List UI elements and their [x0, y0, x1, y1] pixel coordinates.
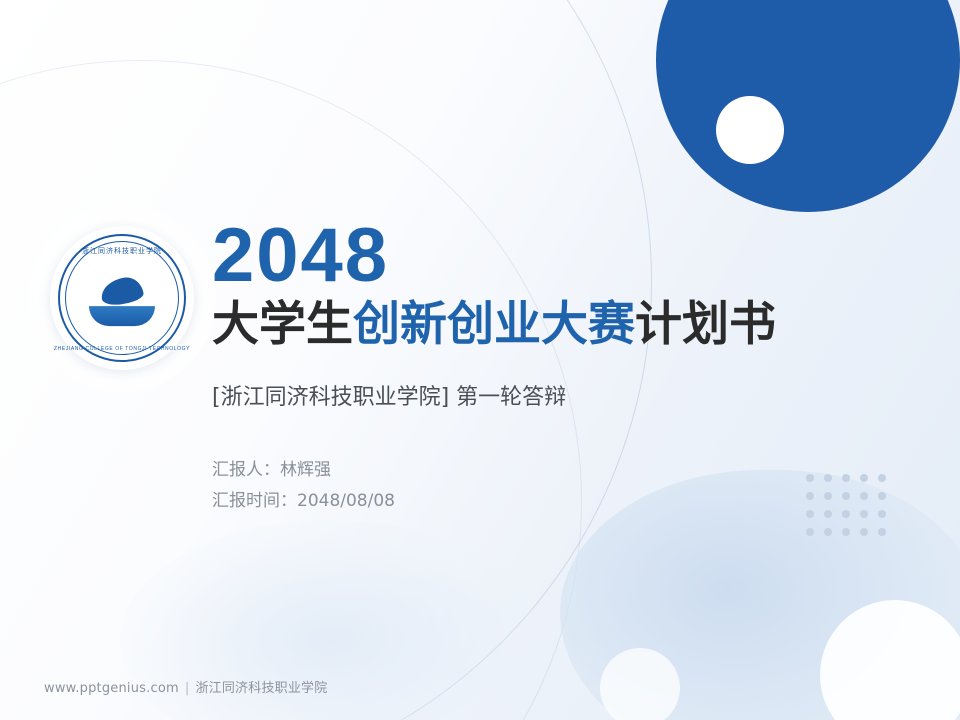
logo-english-name: ZHEJIANG COLLEGE OF TONGJI TECHNOLOGY	[50, 346, 194, 352]
white-circle-bottom-center	[600, 648, 680, 720]
footer-organization: 浙江同济科技职业学院	[195, 681, 327, 696]
college-logo: 浙江同济科技职业学院 ZHEJIANG COLLEGE OF TONGJI TE…	[50, 226, 194, 370]
title-prefix: 大学生	[212, 297, 353, 352]
year-heading: 2048	[212, 218, 932, 294]
footer-website[interactable]: www.pptgenius.com	[44, 681, 179, 696]
title-accent: 创新创业大赛	[353, 297, 635, 352]
presentation-meta: 汇报人：林辉强 汇报时间：2048/08/08	[212, 455, 932, 518]
footer: www.pptgenius.com|浙江同济科技职业学院	[44, 677, 327, 696]
footer-separator: |	[185, 681, 190, 696]
date-line: 汇报时间：2048/08/08	[212, 486, 932, 517]
slide-content: 2048 大学生创新创业大赛计划书 [浙江同济科技职业学院] 第一轮答辩 汇报人…	[212, 218, 932, 517]
subtitle: [浙江同济科技职业学院] 第一轮答辩	[212, 379, 932, 411]
white-circle-in-blue	[716, 96, 784, 164]
title-suffix: 计划书	[635, 297, 776, 352]
blue-circle-top-right	[656, 0, 960, 212]
logo-chinese-name: 浙江同济科技职业学院	[50, 246, 194, 256]
presentation-slide: 浙江同济科技职业学院 ZHEJIANG COLLEGE OF TONGJI TE…	[0, 0, 960, 720]
page-title: 大学生创新创业大赛计划书	[212, 298, 932, 353]
logo-bird-icon	[99, 275, 144, 307]
logo-emblem-icon	[89, 274, 155, 326]
logo-wave-icon	[89, 306, 155, 326]
presenter-line: 汇报人：林辉强	[212, 455, 932, 486]
